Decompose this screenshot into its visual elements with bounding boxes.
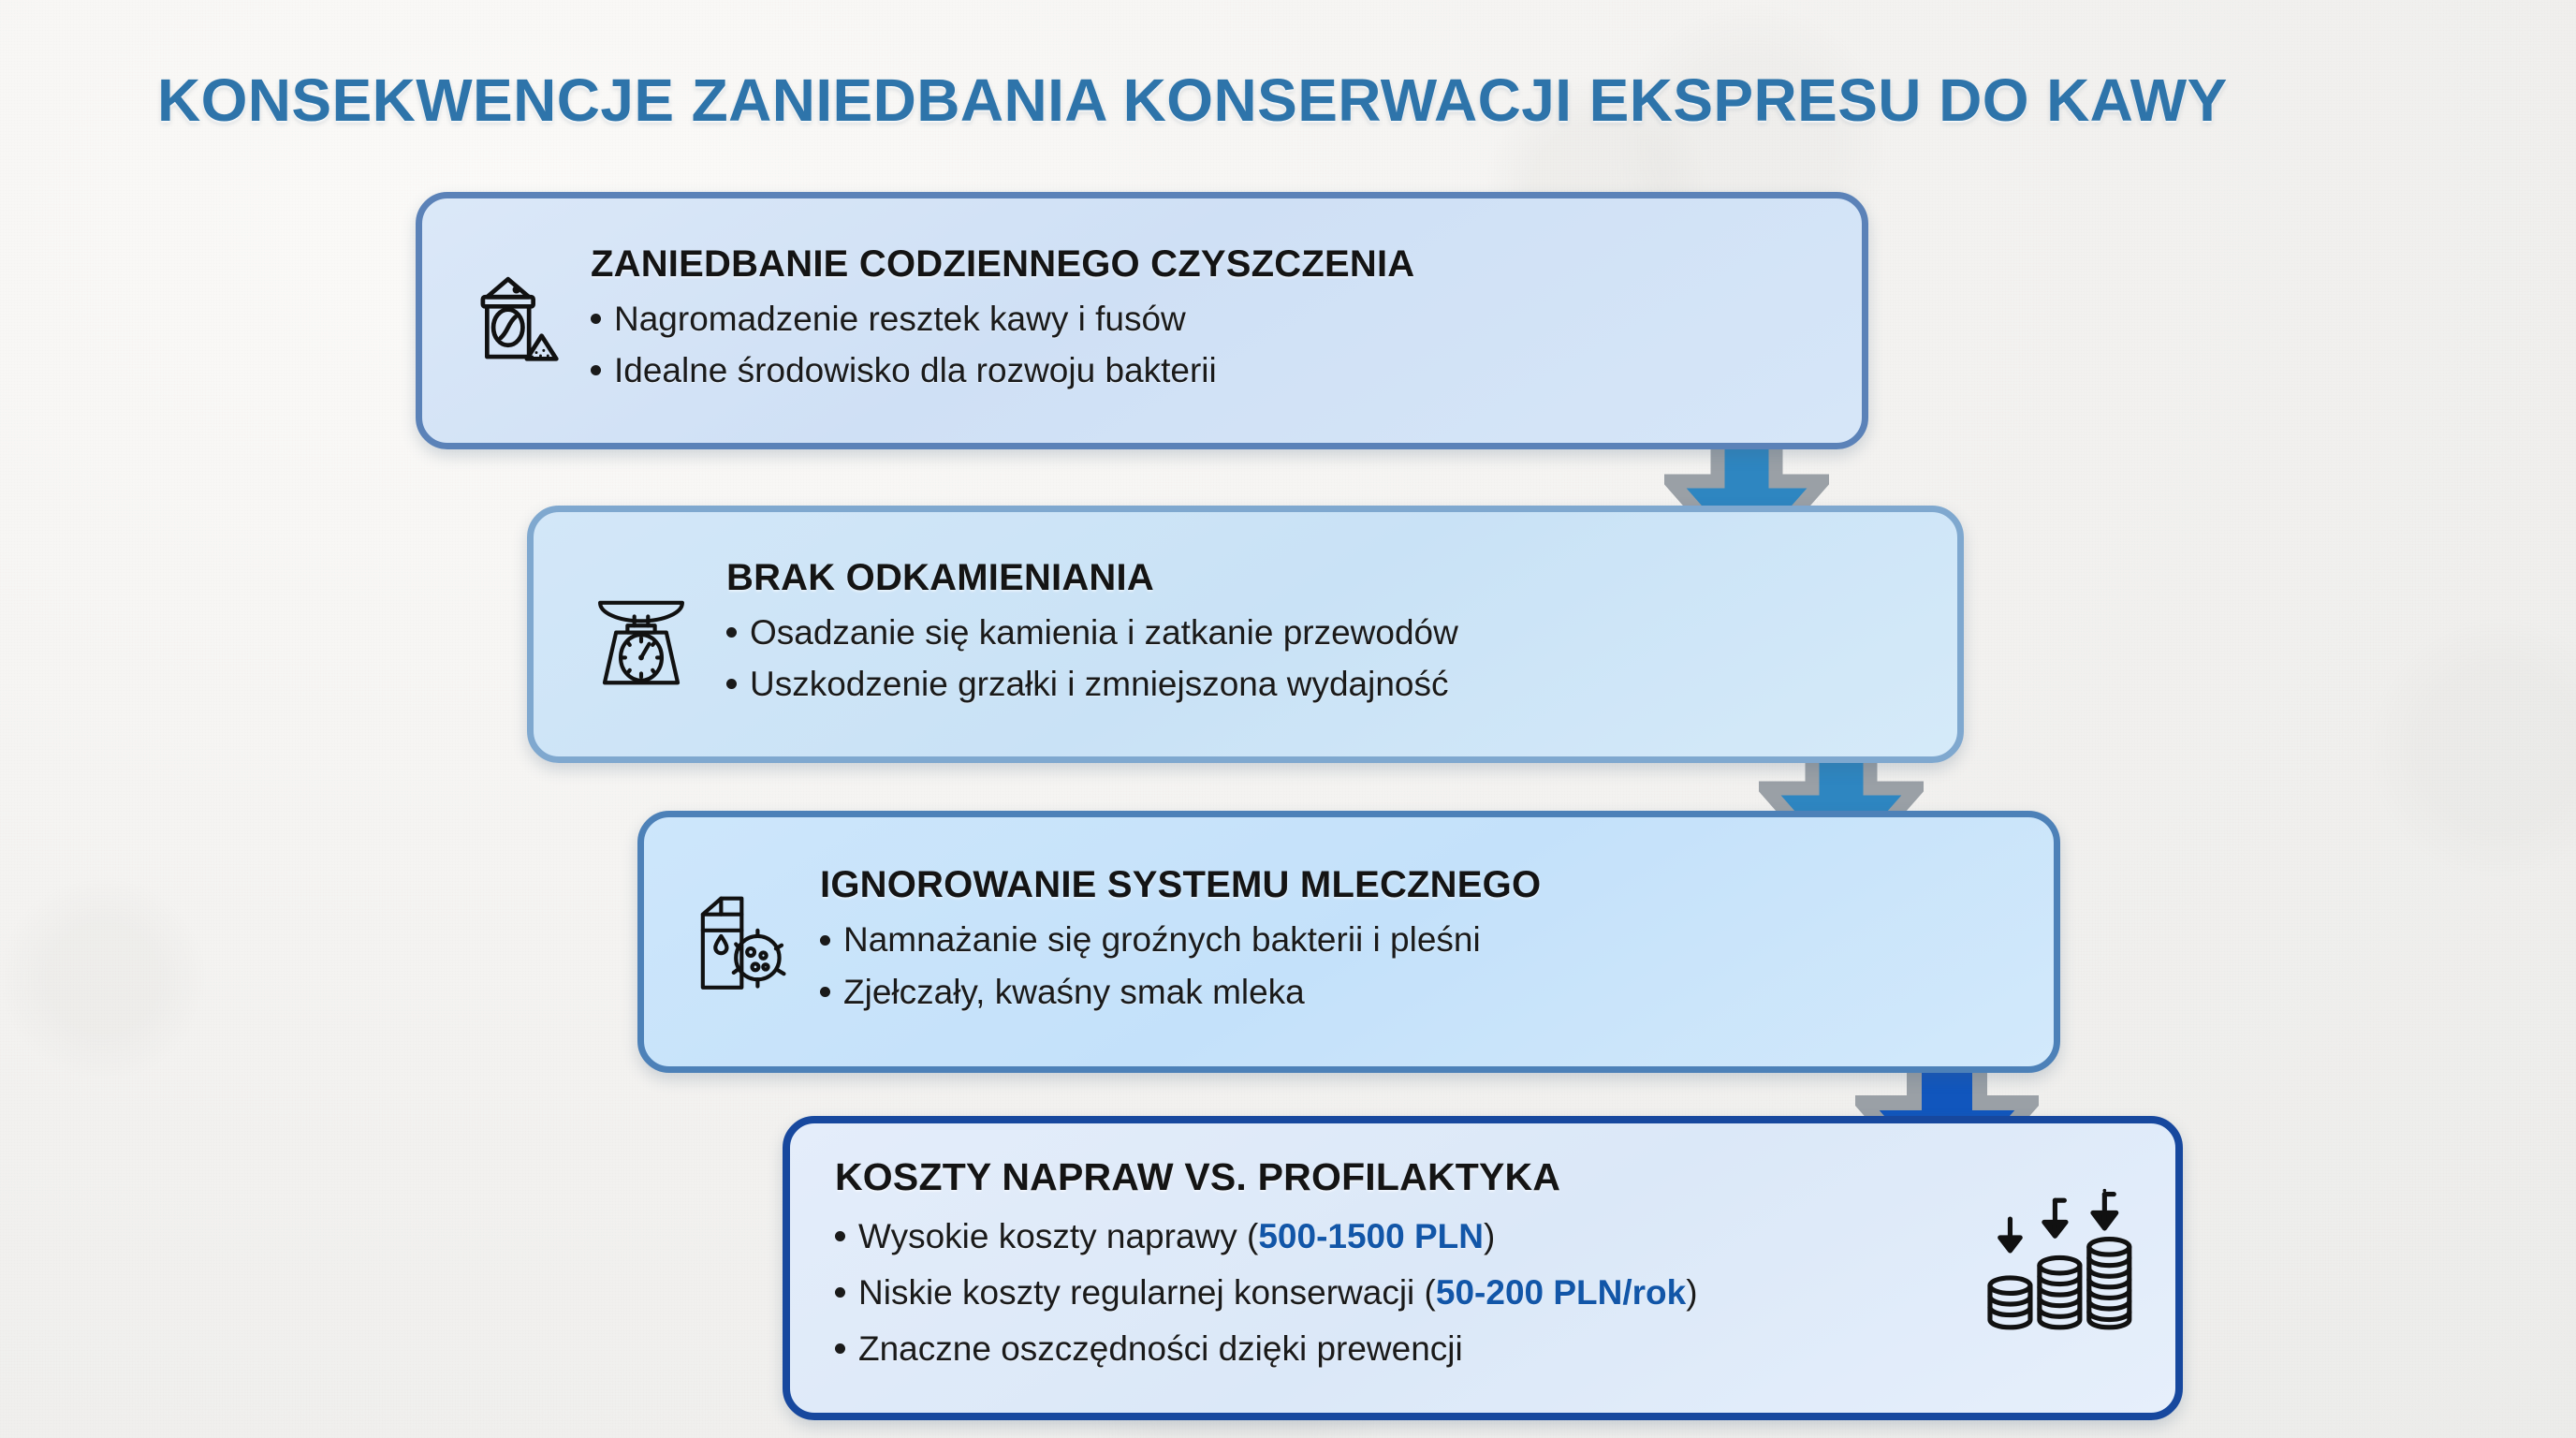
bullet-text: Wysokie koszty naprawy (500-1500 PLN) — [858, 1212, 1495, 1260]
card-repair-costs-vs-prevention[interactable]: KOSZTY NAPRAW VS. PROFILAKTYKA Wysokie k… — [783, 1116, 2183, 1420]
card-no-descaling[interactable]: BRAK ODKAMIENIANIA Osadzanie się kamieni… — [527, 506, 1964, 763]
card-neglected-daily-cleaning[interactable]: ZANIEDBANIE CODZIENNEGO CZYSZCZENIA Nagr… — [416, 192, 1868, 449]
milk-carton-bacteria-icon — [674, 885, 796, 999]
bullet-dot — [820, 935, 830, 946]
list-item: Namnażanie się groźnych bakterii i pleśn… — [820, 916, 2016, 963]
bullet-dot — [835, 1343, 845, 1354]
coin-stacks-icon — [1977, 1188, 2155, 1349]
bullet-text: Uszkodzenie grzałki i zmniejszona wydajn… — [750, 660, 1449, 708]
bullet-dot — [835, 1231, 845, 1241]
bullet-text: Idealne środowisko dla rozwoju bakterii — [614, 346, 1217, 394]
card-title: BRAK ODKAMIENIANIA — [726, 557, 1920, 599]
card-bullet-list: Osadzanie się kamienia i zatkanie przewo… — [726, 609, 1920, 708]
card-title: ZANIEDBANIE CODZIENNEGO CZYSZCZENIA — [591, 243, 1824, 286]
card-bullet-list: Wysokie koszty naprawy (500-1500 PLN) Ni… — [835, 1212, 1953, 1372]
bullet-dot — [726, 679, 737, 689]
cost-highlight: 500-1500 PLN — [1258, 1217, 1484, 1255]
cost-highlight: 50-200 PLN/rok — [1436, 1273, 1686, 1312]
card-bullet-list: Namnażanie się groźnych bakterii i pleśn… — [820, 916, 2016, 1015]
bullet-text: Osadzanie się kamienia i zatkanie przewo… — [750, 609, 1458, 656]
bullet-dot — [591, 314, 601, 324]
coffee-bag-icon — [454, 269, 566, 374]
card-title: KOSZTY NAPRAW VS. PROFILAKTYKA — [835, 1155, 1953, 1199]
card-ignoring-milk-system[interactable]: IGNOROWANIE SYSTEMU MLECZNEGO Namnażanie… — [637, 811, 2060, 1073]
bullet-dot — [726, 627, 737, 638]
list-item: Osadzanie się kamienia i zatkanie przewo… — [726, 609, 1920, 656]
list-item: Idealne środowisko dla rozwoju bakterii — [591, 346, 1824, 394]
list-item: Nagromadzenie resztek kawy i fusów — [591, 295, 1824, 343]
list-item: Znaczne oszczędności dzięki prewencji — [835, 1325, 1953, 1372]
bullet-text: Zjełczały, kwaśny smak mleka — [843, 968, 1305, 1016]
bullet-dot — [591, 365, 601, 375]
list-item: Uszkodzenie grzałki i zmniejszona wydajn… — [726, 660, 1920, 708]
list-item: Zjełczały, kwaśny smak mleka — [820, 968, 2016, 1016]
bullet-dot — [820, 987, 830, 997]
card-bullet-list: Nagromadzenie resztek kawy i fusów Ideal… — [591, 295, 1824, 394]
bullet-text: Namnażanie się groźnych bakterii i pleśn… — [843, 916, 1481, 963]
bullet-dot — [835, 1287, 845, 1298]
bullet-text: Nagromadzenie resztek kawy i fusów — [614, 295, 1186, 343]
page-title: KONSEKWENCJE ZANIEDBANIA KONSERWACJI EKS… — [157, 66, 2228, 135]
list-item: Niskie koszty regularnej konserwacji (50… — [835, 1269, 1953, 1316]
bullet-text: Znaczne oszczędności dzięki prewencji — [858, 1325, 1463, 1372]
card-title: IGNOROWANIE SYSTEMU MLECZNEGO — [820, 864, 2016, 906]
list-item: Wysokie koszty naprawy (500-1500 PLN) — [835, 1212, 1953, 1260]
bullet-text: Niskie koszty regularnej konserwacji (50… — [858, 1269, 1698, 1316]
infographic-canvas: KONSEKWENCJE ZANIEDBANIA KONSERWACJI EKS… — [0, 0, 2576, 1438]
kitchen-scale-icon — [580, 578, 702, 692]
